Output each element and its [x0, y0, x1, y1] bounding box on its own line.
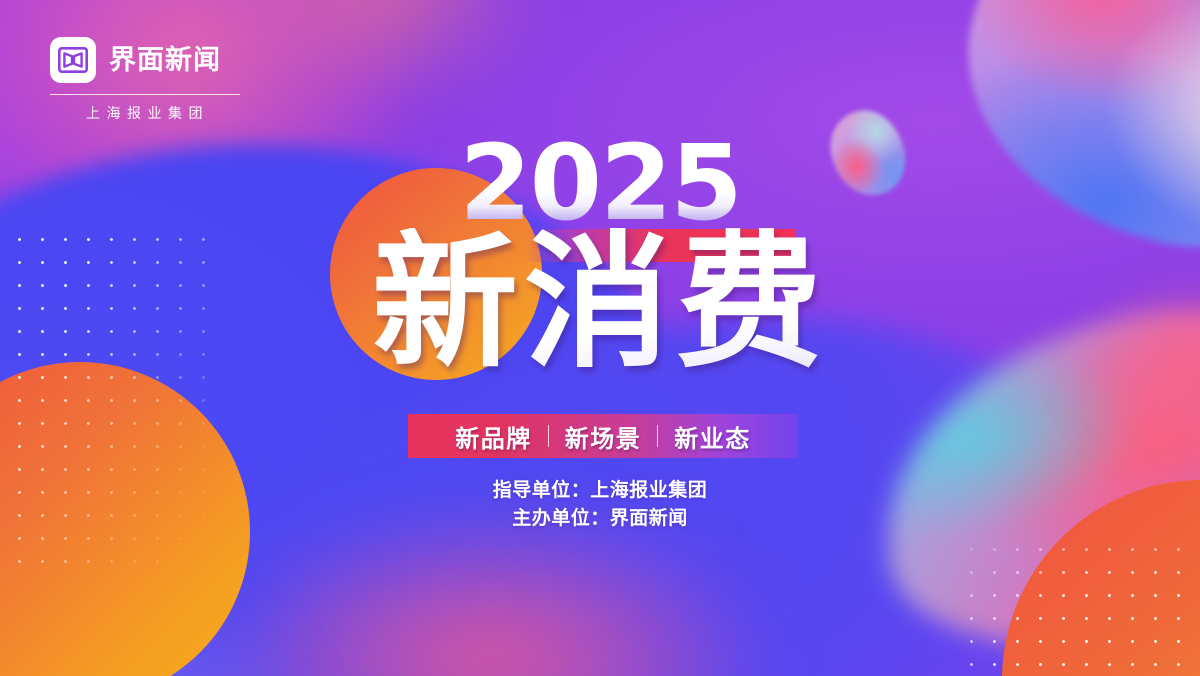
tagline-item-2: 新场景 [549, 419, 658, 454]
tagline-item-3: 新业态 [658, 419, 767, 454]
tagline-item-1: 新品牌 [439, 419, 548, 454]
poster-content: 2025 新消费 新品牌 新场景 新业态 指导单位：上海报业集团 主办单位：界面… [0, 0, 1200, 676]
credits-block: 指导单位：上海报业集团 主办单位：界面新闻 [0, 477, 1200, 532]
credit-line-guidance: 指导单位：上海报业集团 [0, 477, 1200, 505]
poster-headline: 新消费 [0, 228, 1200, 378]
credit-line-organizer: 主办单位：界面新闻 [0, 505, 1200, 533]
tagline-bar: 新品牌 新场景 新业态 [408, 414, 798, 458]
poster-canvas: 界面新闻 上海报业集团 2025 新消费 新品牌 新场景 新业态 指导单位：上海… [0, 0, 1200, 676]
